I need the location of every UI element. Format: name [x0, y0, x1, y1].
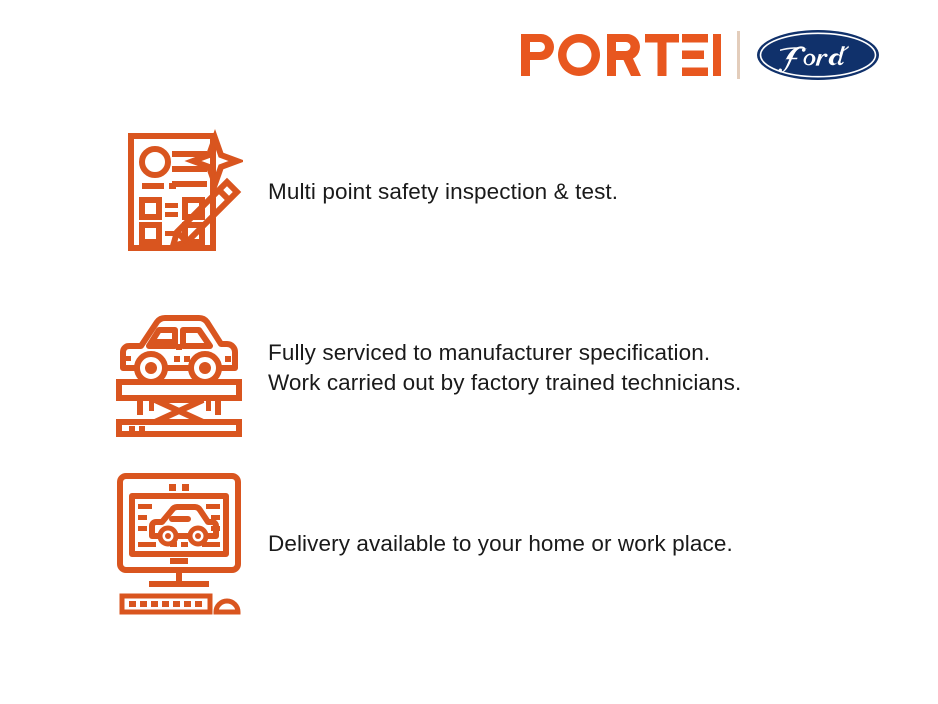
ford-logo[interactable]: [756, 29, 880, 81]
monitor-car-delivery-icon: [104, 470, 254, 618]
logo-divider: [737, 31, 740, 79]
feature-text: Fully serviced to manufacturer specifica…: [268, 338, 741, 398]
clipboard-checklist-icon: [104, 124, 254, 260]
feature-list: Multi point safety inspection & test.: [0, 104, 938, 632]
porter-wordmark[interactable]: [521, 34, 721, 76]
brand-logo-bar: [0, 24, 938, 86]
feature-text: Delivery available to your home or work …: [268, 529, 733, 559]
car-on-lift-icon: [104, 298, 254, 438]
feature-row: Delivery available to your home or work …: [0, 456, 938, 632]
feature-text: Multi point safety inspection & test.: [268, 177, 618, 207]
feature-row: Multi point safety inspection & test.: [0, 104, 938, 280]
feature-row: Fully serviced to manufacturer specifica…: [0, 280, 938, 456]
logo-lockup[interactable]: [521, 29, 880, 81]
